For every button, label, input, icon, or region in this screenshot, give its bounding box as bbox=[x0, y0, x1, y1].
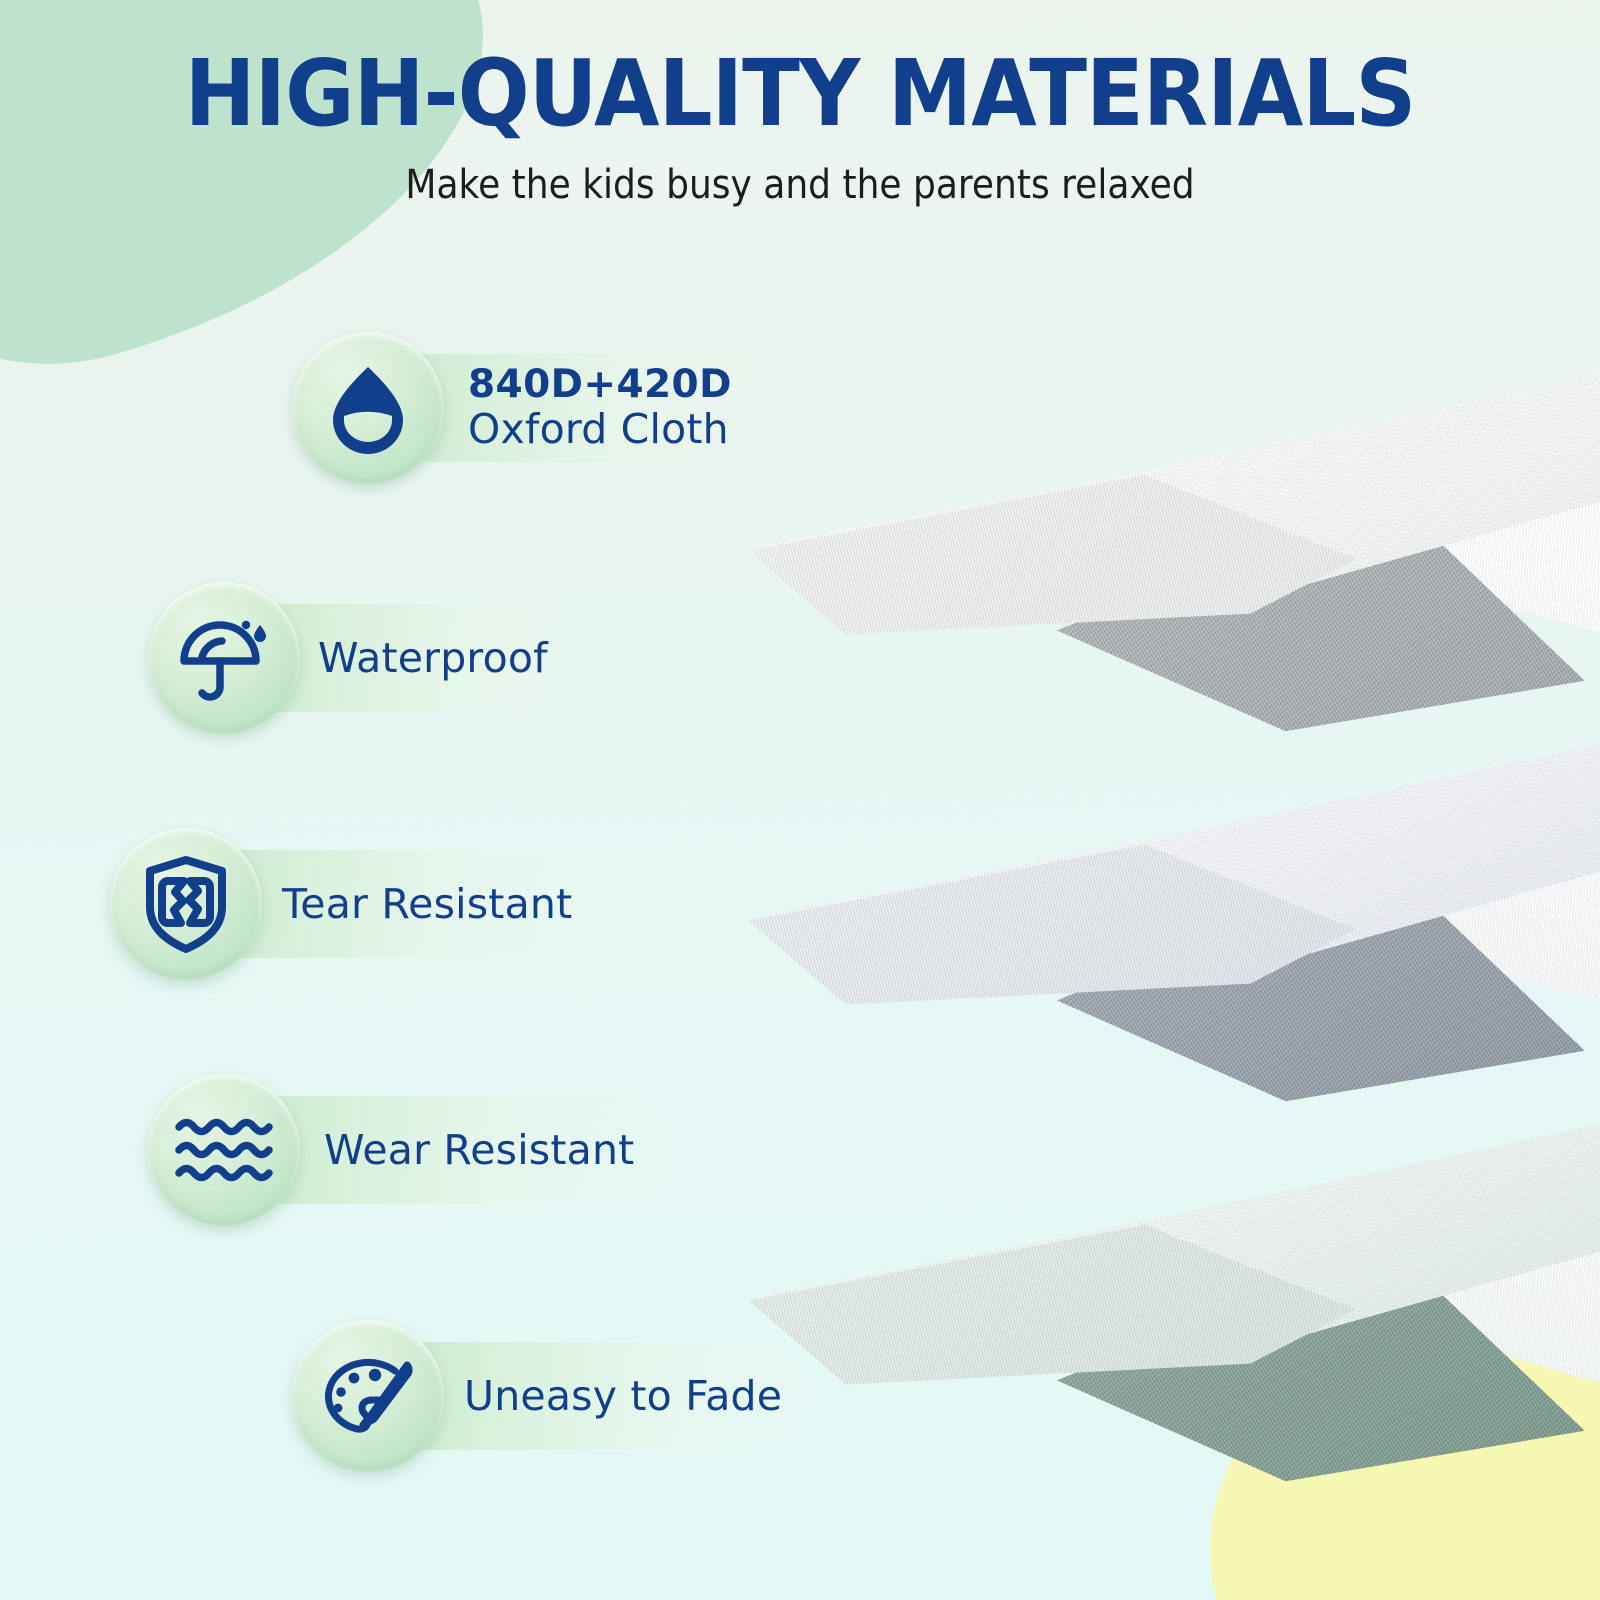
badge-label: Uneasy to Fade bbox=[464, 1372, 782, 1420]
badge-text-block: Waterproof bbox=[318, 634, 548, 682]
badge-label: Waterproof bbox=[318, 634, 548, 682]
badge-headline: 840D+420D bbox=[468, 363, 732, 407]
badge-icon-circle[interactable] bbox=[292, 332, 444, 484]
badge-icon-circle[interactable] bbox=[110, 828, 262, 980]
badge-subline: Oxford Cloth bbox=[468, 407, 732, 453]
badge-label: Tear Resistant bbox=[282, 880, 572, 928]
feature-badge-tear-resistant[interactable]: Tear Resistant bbox=[110, 828, 572, 980]
waves-icon bbox=[174, 1113, 274, 1187]
badge-text-block: Wear Resistant bbox=[324, 1126, 634, 1174]
badge-text-block: Uneasy to Fade bbox=[464, 1372, 782, 1420]
feature-badge-uneasy-to-fade[interactable]: Uneasy to Fade bbox=[292, 1320, 782, 1472]
feature-badge-oxford-cloth[interactable]: 840D+420DOxford Cloth bbox=[292, 332, 732, 484]
badge-label: Wear Resistant bbox=[324, 1126, 634, 1174]
feature-badge-list: 840D+420DOxford Cloth Waterproof Tear Re… bbox=[0, 0, 1600, 1600]
badge-icon-circle[interactable] bbox=[148, 1074, 300, 1226]
badge-text-block: 840D+420DOxford Cloth bbox=[468, 363, 732, 453]
badge-icon-circle[interactable] bbox=[148, 582, 300, 734]
water-drop-icon bbox=[325, 362, 411, 454]
badge-text-block: Tear Resistant bbox=[282, 880, 572, 928]
umbrella-rain-icon bbox=[176, 612, 272, 704]
badge-icon-circle[interactable] bbox=[292, 1320, 444, 1472]
paint-palette-icon bbox=[319, 1351, 417, 1441]
shield-tear-icon bbox=[140, 855, 232, 953]
feature-badge-waterproof[interactable]: Waterproof bbox=[148, 582, 548, 734]
feature-badge-wear-resistant[interactable]: Wear Resistant bbox=[148, 1074, 634, 1226]
